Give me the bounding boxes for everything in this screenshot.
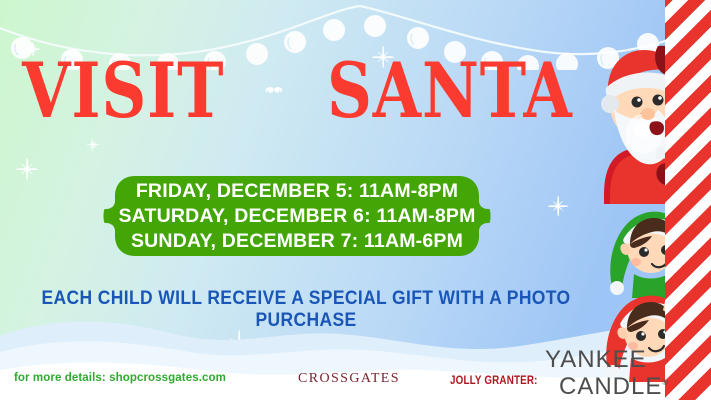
yankee-candle-line2: CANDLE®	[545, 371, 669, 398]
santa-visit-poster: VISIT SANTA FRIDAY, DECEMBER 5: 11AM-8PM…	[0, 0, 711, 400]
gift-tagline: EACH CHILD WILL RECEIVE A SPECIAL GIFT W…	[24, 288, 587, 332]
sparkle-icon	[86, 138, 99, 151]
sparkle-icon	[16, 158, 38, 180]
trademark-icon: ®	[662, 378, 669, 387]
dates-panel: FRIDAY, DECEMBER 5: 11AM-8PM SATURDAY, D…	[101, 174, 493, 258]
dates-list: FRIDAY, DECEMBER 5: 11AM-8PM SATURDAY, D…	[101, 174, 493, 258]
yankee-candle-logo: YANKEE CANDLE®	[545, 348, 669, 398]
details-url[interactable]: for more details: shopcrossgates.com	[14, 372, 226, 384]
headline-word-visit: VISIT	[22, 56, 224, 126]
date-line: SATURDAY, DECEMBER 6: 11AM-8PM	[118, 204, 475, 229]
moustache-icon	[265, 69, 283, 113]
sparkle-icon	[548, 196, 568, 216]
date-line: SUNDAY, DECEMBER 7: 11AM-6PM	[131, 229, 463, 254]
date-line: FRIDAY, DECEMBER 5: 11AM-8PM	[136, 179, 458, 204]
candy-cane-pole-icon	[665, 0, 711, 400]
sponsor-label: JOLLY GRANTER:	[450, 373, 538, 387]
headline-word-santa: SANTA	[327, 56, 573, 126]
page-title: VISIT SANTA	[0, 56, 600, 126]
crossgates-logo: CROSSGATES	[298, 371, 400, 387]
yankee-candle-line2-text: CANDLE	[559, 373, 662, 400]
yankee-candle-line1: YANKEE	[545, 348, 669, 371]
